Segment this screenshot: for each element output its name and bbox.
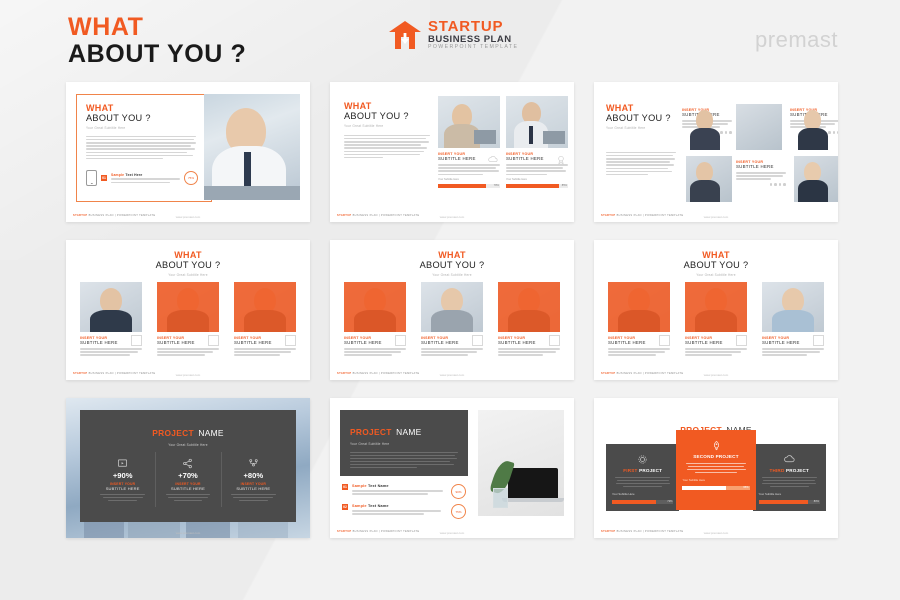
slide8-subtitle: Your Great Subtitle Here — [350, 442, 458, 446]
slide7-stats: +90% INSERT YOUR SUBTITLE HERE +70% INSE… — [90, 456, 286, 501]
slide9-card-3-progress-text: 80% — [814, 500, 819, 503]
slide1-feature-label: Sample — [111, 173, 124, 177]
slide9-card-2-progress-label: Your Subtitle Here — [682, 478, 749, 482]
laptop-shape — [508, 468, 558, 498]
logo-wordmark: STARTUP BUSINESS PLAN POWERPOINT TEMPLAT… — [428, 19, 518, 50]
team-icon — [248, 456, 259, 467]
slide3-title-what: WHAT — [606, 104, 676, 113]
slide7-stat-1-subtitle: SUBTITLE HERE — [94, 486, 151, 491]
slide3-member-3[interactable]: INSERT YOUR SUBTITLE HERE — [682, 156, 786, 202]
slide3-member-3-subtitle: SUBTITLE HERE — [736, 164, 786, 169]
slide8-item-1-index: 01 — [342, 484, 348, 490]
slide9-card-1-rest: PROJECT — [639, 468, 662, 473]
window-icon — [285, 335, 296, 346]
slide6-card-3[interactable]: INSERT YOUR SUBTITLE HERE — [762, 282, 824, 356]
slide-page-marker: www.premast.com — [440, 215, 465, 219]
slide8-item-2-label2: Text Name — [368, 504, 389, 508]
slide9-card-1-progress-text: 72% — [667, 500, 672, 503]
slide1-body-text — [86, 136, 196, 160]
slide2-card-1-photo — [438, 96, 500, 148]
headset-icon — [395, 335, 406, 346]
slide9-card-2-rest: PROJECT — [716, 454, 739, 459]
slide7-stat-2-subtitle: SUBTITLE HERE — [159, 486, 216, 491]
slide3-member-3-photo — [686, 156, 732, 202]
slide4-card-1[interactable]: INSERT YOUR SUBTITLE HERE — [80, 282, 142, 356]
slide8-photo — [478, 410, 564, 516]
slide5-card-1-photo — [344, 282, 406, 332]
slide6-card-1-photo — [608, 282, 670, 332]
slide1-subtitle: Your Great Subtitle Here — [86, 126, 196, 130]
page-title-line2: ABOUT YOU ? — [68, 41, 246, 68]
slide3-member-1-photo — [736, 104, 782, 150]
slide8-item-2[interactable]: 02 Sample Text Name 75% — [342, 504, 466, 519]
slide2-card-2[interactable]: INSERT YOUR SUBTITLE HERE Your Subtitle … — [506, 96, 568, 188]
slide-page-marker: www.premast.com — [440, 373, 465, 377]
slide8-item-1[interactable]: 01 Sample Text Name 90% — [342, 484, 466, 499]
slide1-feature-label2: Text Here — [125, 173, 142, 177]
cloud-icon — [488, 152, 498, 162]
slide8-title-rest: NAME — [396, 427, 421, 437]
slide9-card-3-rest: PROJECT — [786, 468, 809, 473]
slide-thumbnail-8[interactable]: PROJECT NAME Your Great Subtitle Here 01… — [330, 398, 574, 538]
slide8-title-accent: PROJECT — [350, 427, 392, 437]
bulb-icon — [208, 335, 219, 346]
slide3-member-4-photo — [794, 156, 838, 202]
slide5-card-2-photo — [421, 282, 483, 332]
slide5-card-3[interactable]: INSERT YOUR SUBTITLE HERE — [498, 282, 560, 356]
slide-footer: STARTUP BUSINESS PLAN | POWERPOINT TEMPL… — [337, 372, 419, 375]
slide7-title-rest: NAME — [198, 428, 223, 438]
award-icon — [556, 152, 566, 162]
gear-icon — [637, 452, 648, 463]
slide6-title-about: ABOUT YOU ? — [594, 260, 838, 271]
slide7-subtitle: Your Great Subtitle Here — [80, 443, 296, 447]
logo-subtagline: POWERPOINT TEMPLATE — [428, 45, 518, 50]
slide6-subtitle: Your Great Subtitle Here — [594, 273, 838, 277]
slide2-card-1[interactable]: INSERT YOUR SUBTITLE HERE Your Subtitle … — [438, 96, 500, 188]
slide2-title-about: ABOUT YOU ? — [344, 111, 430, 122]
slide2-title-what: WHAT — [344, 102, 430, 111]
slide9-card-2-accent: SECOND — [693, 454, 714, 459]
slide-footer: STARTUP BUSINESS PLAN | POWERPOINT TEMPL… — [337, 530, 419, 533]
slide2-card-2-progress-label: Your Subtitle Here — [506, 178, 568, 181]
window-icon — [549, 335, 560, 346]
slide1-feature-index: 01 — [101, 175, 107, 181]
slide3-member-2[interactable]: INSERT YOUR SUBTITLE HERE — [790, 104, 838, 150]
slide-grid: WHAT ABOUT YOU ? Your Great Subtitle Her… — [66, 82, 838, 538]
slide1-feature-row: 01 Sample Text Here 75% — [86, 170, 198, 186]
slide5-title-about: ABOUT YOU ? — [330, 260, 574, 271]
slide9-card-2-progress: 65% — [682, 486, 749, 489]
slide6-card-2-photo — [685, 282, 747, 332]
slide7-stat-2-value: +70% — [159, 471, 216, 480]
slide8-panel: PROJECT NAME Your Great Subtitle Here — [340, 410, 468, 476]
slide9-card-1[interactable]: FIRST PROJECT Your Subtitle Here 72% — [606, 444, 679, 511]
slide-thumbnail-7[interactable]: PROJECT NAME Your Great Subtitle Here +9… — [66, 398, 310, 538]
slide-footer: STARTUP BUSINESS PLAN | POWERPOINT TEMPL… — [601, 530, 683, 533]
slide3-subtitle: Your Great Subtitle Here — [606, 126, 676, 130]
slide4-card-3[interactable]: INSERT YOUR SUBTITLE HERE — [234, 282, 296, 356]
slide-thumbnail-5[interactable]: WHAT ABOUT YOU ? Your Great Subtitle Her… — [330, 240, 574, 380]
slide8-item-2-index: 02 — [342, 504, 348, 510]
window-icon — [813, 335, 824, 346]
slide2-subtitle: Your Great Subtitle Here — [344, 124, 430, 128]
slide9-card-2[interactable]: SECOND PROJECT Your Subtitle Here 65% — [676, 430, 755, 510]
slide8-item-2-value: 75% — [451, 504, 466, 519]
house-arrow-icon — [388, 18, 422, 52]
slide5-card-1[interactable]: INSERT YOUR SUBTITLE HERE — [344, 282, 406, 356]
cloud-icon — [784, 452, 795, 463]
slide5-title-what: WHAT — [330, 251, 574, 260]
slide4-card-3-photo — [234, 282, 296, 332]
slide4-card-2[interactable]: INSERT YOUR SUBTITLE HERE — [157, 282, 219, 356]
slide5-card-2[interactable]: INSERT YOUR SUBTITLE HERE — [421, 282, 483, 356]
slide7-stat-3: +80% INSERT YOUR SUBTITLE HERE — [221, 456, 286, 501]
slide-footer: STARTUP BUSINESS PLAN | POWERPOINT TEMPL… — [601, 372, 683, 375]
slide1-title-what: WHAT — [86, 104, 196, 113]
slide-page-marker: www.premast.com — [176, 373, 201, 377]
slide8-item-1-label: Sample — [352, 484, 367, 488]
slide-footer: STARTUP BUSINESS PLAN | POWERPOINT TEMPL… — [73, 214, 155, 217]
phone-icon — [86, 170, 97, 186]
slide6-card-1[interactable]: INSERT YOUR SUBTITLE HERE — [608, 282, 670, 356]
slide6-card-2[interactable]: INSERT YOUR SUBTITLE HERE — [685, 282, 747, 356]
slide6-card-3-photo — [762, 282, 824, 332]
slide1-content: WHAT ABOUT YOU ? Your Great Subtitle Her… — [86, 104, 196, 159]
slide2-body-text — [344, 135, 430, 159]
logo-name: STARTUP — [428, 19, 518, 35]
slide3-member-1[interactable]: INSERT YOUR SUBTITLE HERE — [682, 104, 786, 150]
slide9-card-1-progress: 72% — [612, 500, 673, 503]
slide-thumbnail-9[interactable]: PROJECT NAME Your Great Subtitle Here FI… — [594, 398, 838, 538]
slide1-photo — [204, 94, 300, 200]
slide9-card-3-progress: 80% — [759, 500, 820, 503]
slide9-card-3-accent: THIRD — [769, 468, 784, 473]
slide4-title-what: WHAT — [66, 251, 310, 260]
slide1-feature-value: 75% — [184, 171, 198, 185]
slide7-stat-1-value: +90% — [94, 471, 151, 480]
slide4-title-about: ABOUT YOU ? — [66, 260, 310, 271]
slide5-heading: WHAT ABOUT YOU ? Your Great Subtitle Her… — [330, 251, 574, 277]
slide7-heading: PROJECT NAME Your Great Subtitle Here — [80, 423, 296, 447]
slide2-card-1-progress-label: Your Subtitle Here — [438, 178, 500, 181]
page-header: WHAT ABOUT YOU ? STARTUP BUSINESS PLAN P… — [0, 0, 900, 80]
slide7-panel: PROJECT NAME Your Great Subtitle Here +9… — [80, 410, 296, 522]
share-icon — [182, 456, 193, 467]
page-title: WHAT ABOUT YOU ? — [68, 14, 246, 68]
vase-shape — [493, 488, 508, 508]
page-title-line1: WHAT — [68, 14, 246, 41]
slide2-card-1-progress: 78% — [438, 184, 500, 187]
startup-logo: STARTUP BUSINESS PLAN POWERPOINT TEMPLAT… — [388, 18, 518, 52]
slide7-stat-1: +90% INSERT YOUR SUBTITLE HERE — [90, 456, 155, 501]
premast-brand: premast — [755, 27, 838, 53]
slide2-card-2-progress-text: 85% — [562, 184, 567, 187]
slide8-item-1-label2: Text Name — [368, 484, 389, 488]
bulb-icon — [472, 335, 483, 346]
slide4-card-1-photo — [80, 282, 142, 332]
slide8-item-2-label: Sample — [352, 504, 367, 508]
slide-page-marker: www.premast.com — [176, 215, 201, 219]
slide4-card-2-photo — [157, 282, 219, 332]
slide8-item-1-value: 90% — [451, 484, 466, 499]
slide-page-marker: www.premast.com — [704, 373, 729, 377]
slide7-title-accent: PROJECT — [152, 428, 194, 438]
slide3-title-about: ABOUT YOU ? — [606, 113, 676, 124]
slide5-card-3-photo — [498, 282, 560, 332]
slide7-stat-3-subtitle: SUBTITLE HERE — [225, 486, 282, 491]
slide4-heading: WHAT ABOUT YOU ? Your Great Subtitle Her… — [66, 251, 310, 277]
slide3-member-3-social[interactable] — [736, 183, 786, 186]
slide-page-marker: www.premast.com — [176, 531, 201, 535]
bulb-icon — [736, 335, 747, 346]
slide9-card-1-progress-label: Your Subtitle Here — [612, 492, 673, 496]
slide-thumbnail-3[interactable]: WHAT ABOUT YOU ? Your Great Subtitle Her… — [594, 82, 838, 222]
headset-icon — [131, 335, 142, 346]
slide2-card-2-progress: 85% — [506, 184, 568, 187]
slide6-title-what: WHAT — [594, 251, 838, 260]
slide9-card-2-progress-text: 65% — [743, 486, 748, 489]
slide7-stat-3-value: +80% — [225, 471, 282, 480]
headset-icon — [659, 335, 670, 346]
slide-footer: STARTUP BUSINESS PLAN | POWERPOINT TEMPL… — [73, 372, 155, 375]
slide-thumbnail-2[interactable]: WHAT ABOUT YOU ? Your Great Subtitle Her… — [330, 82, 574, 222]
slide9-card-1-accent: FIRST — [623, 468, 637, 473]
slide1-title-about: ABOUT YOU ? — [86, 113, 196, 124]
slide3-body-text — [606, 152, 676, 176]
slide7-stat-2: +70% INSERT YOUR SUBTITLE HERE — [155, 456, 220, 501]
slide-footer: STARTUP BUSINESS PLAN | POWERPOINT TEMPL… — [601, 214, 683, 217]
presentation-icon — [117, 456, 128, 467]
slide2-card-1-progress-text: 78% — [494, 184, 499, 187]
slide-footer: STARTUP BUSINESS PLAN | POWERPOINT TEMPL… — [337, 214, 419, 217]
slide9-card-3[interactable]: THIRD PROJECT Your Subtitle Here 80% — [753, 444, 826, 511]
slide5-subtitle: Your Great Subtitle Here — [330, 273, 574, 277]
slide-page-marker: www.premast.com — [704, 215, 729, 219]
slide-page-marker: www.premast.com — [440, 531, 465, 535]
slide-thumbnail-1[interactable]: WHAT ABOUT YOU ? Your Great Subtitle Her… — [66, 82, 310, 222]
slide4-subtitle: Your Great Subtitle Here — [66, 273, 310, 277]
slide6-heading: WHAT ABOUT YOU ? Your Great Subtitle Her… — [594, 251, 838, 277]
slide-page-marker: www.premast.com — [704, 531, 729, 535]
slide-thumbnail-4[interactable]: WHAT ABOUT YOU ? Your Great Subtitle Her… — [66, 240, 310, 380]
rocket-icon — [711, 438, 722, 449]
slide9-card-3-progress-label: Your Subtitle Here — [759, 492, 820, 496]
slide3-member-4[interactable]: INSERT YOUR SUBTITLE HERE — [790, 156, 838, 202]
slide-thumbnail-6[interactable]: WHAT ABOUT YOU ? Your Great Subtitle Her… — [594, 240, 838, 380]
slide2-card-2-photo — [506, 96, 568, 148]
slide9-cards: FIRST PROJECT Your Subtitle Here 72% SEC… — [606, 444, 826, 511]
